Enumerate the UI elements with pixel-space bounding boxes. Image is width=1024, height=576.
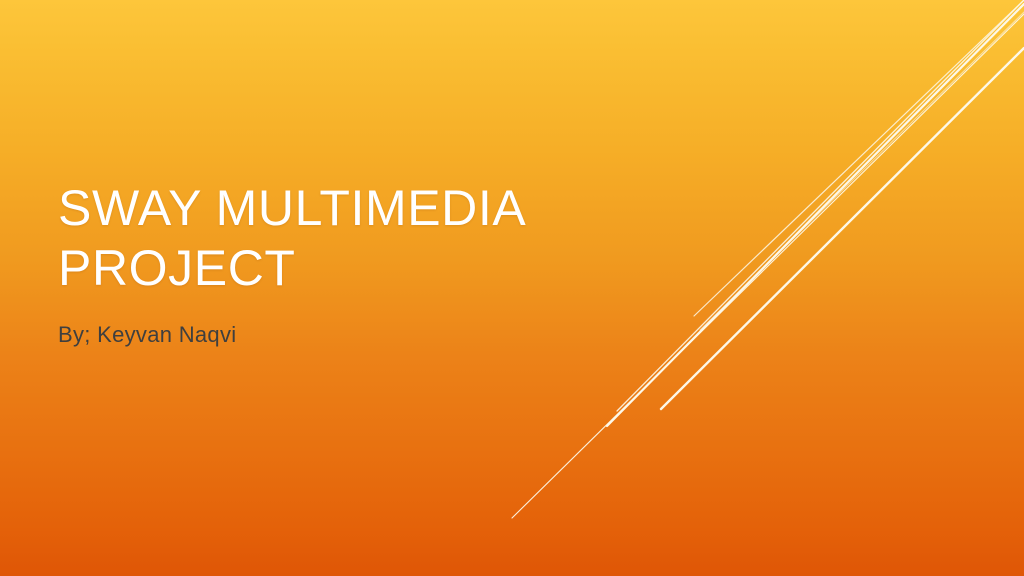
slide-subtitle-author: By; Keyvan Naqvi <box>58 298 678 350</box>
streak-6 <box>700 12 1024 330</box>
streak-3 <box>617 0 1024 411</box>
streak-4 <box>661 48 1024 409</box>
page-title: Sway Multimedia Project <box>58 178 678 298</box>
title-text-block: Sway Multimedia Project By; Keyvan Naqvi <box>58 178 678 350</box>
streak-5 <box>694 0 1024 316</box>
presentation-title-slide: Sway Multimedia Project By; Keyvan Naqvi <box>0 0 1024 576</box>
